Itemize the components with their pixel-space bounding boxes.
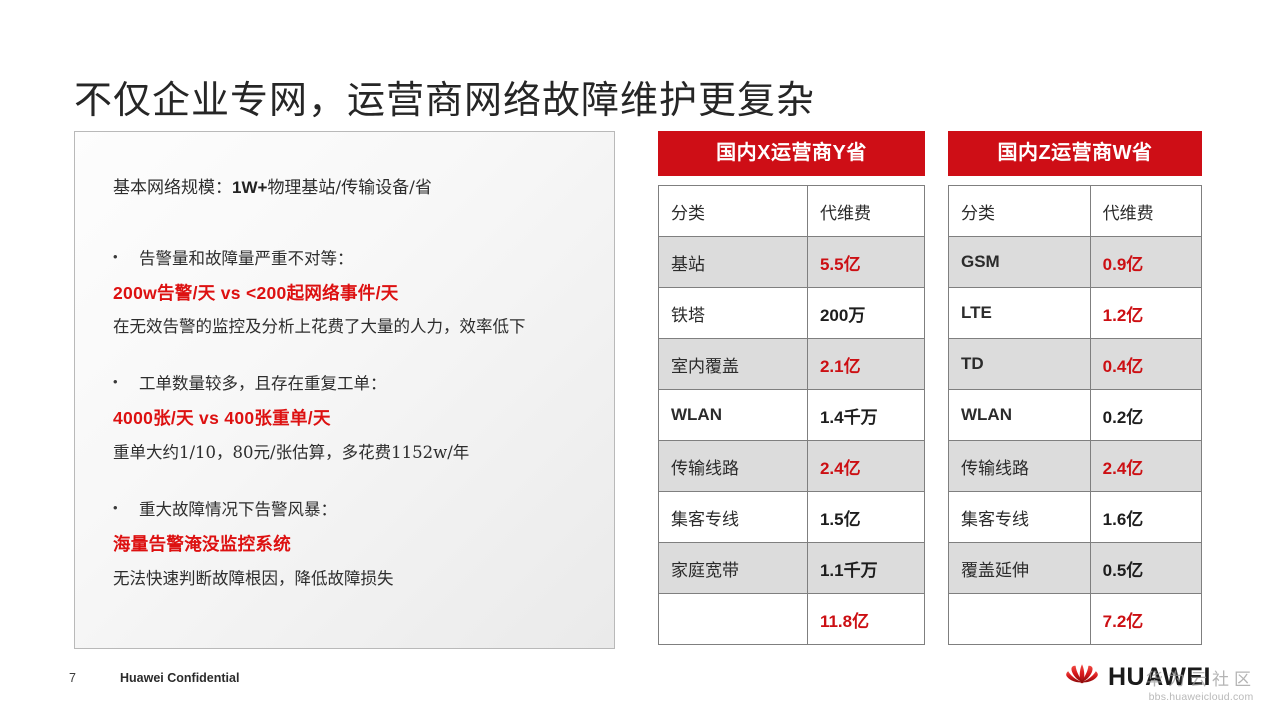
spacer — [658, 176, 925, 185]
table-row: GSM0.9亿 — [949, 237, 1202, 288]
huawei-brand: HUAWEI — [1063, 660, 1211, 695]
cell-fee: 0.2亿 — [1090, 390, 1201, 441]
issue-heading-row: • 重大故障情况下告警风暴： — [113, 498, 590, 522]
issues-panel-body: 基本网络规模：1W+物理基站/传输设备/省 • 告警量和故障量严重不对等： 20… — [75, 132, 614, 590]
cell-category: 覆盖延伸 — [949, 543, 1091, 594]
table-row: WLAN1.4千万 — [659, 390, 925, 441]
issue-highlight: 海量告警淹没监控系统 — [113, 533, 590, 557]
cell-fee: 2.4亿 — [1090, 441, 1201, 492]
cell-category — [949, 594, 1091, 645]
issue-detail: 在无效告警的监控及分析上花费了大量的人力，效率低下 — [113, 315, 590, 338]
cell-category: GSM — [949, 237, 1091, 288]
network-scale-prefix: 基本网络规模： — [113, 178, 232, 198]
cell-fee: 5.5亿 — [807, 237, 924, 288]
table-row: 11.8亿 — [659, 594, 925, 645]
huawei-wordmark: HUAWEI — [1108, 663, 1211, 692]
cell-fee: 0.5亿 — [1090, 543, 1201, 594]
maintenance-fee-table: 分类 代维费 GSM0.9亿LTE1.2亿TD0.4亿WLAN0.2亿传输线路2… — [948, 185, 1202, 645]
network-scale-suffix: 物理基站/传输设备/省 — [267, 178, 431, 198]
cell-fee: 11.8亿 — [807, 594, 924, 645]
cell-fee: 200万 — [807, 288, 924, 339]
issue-block-3: • 重大故障情况下告警风暴： 海量告警淹没监控系统 无法快速判断故障根因，降低故… — [113, 498, 590, 590]
page-title: 不仅企业专网，运营商网络故障维护更复杂 — [74, 69, 815, 124]
table-body: GSM0.9亿LTE1.2亿TD0.4亿WLAN0.2亿传输线路2.4亿集客专线… — [949, 237, 1202, 645]
issue-heading: 重大故障情况下告警风暴： — [139, 498, 590, 522]
issue-detail: 无法快速判断故障根因，降低故障损失 — [113, 567, 590, 590]
table-row: 传输线路2.4亿 — [949, 441, 1202, 492]
cell-category: LTE — [949, 288, 1091, 339]
table-row: 基站5.5亿 — [659, 237, 925, 288]
cell-fee: 2.4亿 — [807, 441, 924, 492]
table-row: WLAN0.2亿 — [949, 390, 1202, 441]
table-row: LTE1.2亿 — [949, 288, 1202, 339]
table-banner: 国内X运营商Y省 — [658, 131, 925, 176]
issue-block-2: • 工单数量较多，且存在重复工单： 4000张/天 vs 400张重单/天 重单… — [113, 372, 590, 464]
cell-category: 传输线路 — [949, 441, 1091, 492]
cell-category: 家庭宽带 — [659, 543, 808, 594]
cell-fee: 1.6亿 — [1090, 492, 1201, 543]
cell-category: 铁塔 — [659, 288, 808, 339]
cell-category: 基站 — [659, 237, 808, 288]
cell-fee: 0.9亿 — [1090, 237, 1201, 288]
table-header-row: 分类 代维费 — [659, 186, 925, 237]
table-row: TD0.4亿 — [949, 339, 1202, 390]
cell-category: 传输线路 — [659, 441, 808, 492]
table-banner: 国内Z运营商W省 — [948, 131, 1202, 176]
table-row: 铁塔200万 — [659, 288, 925, 339]
cell-fee: 7.2亿 — [1090, 594, 1201, 645]
issue-block-1: • 告警量和故障量严重不对等： 200w告警/天 vs <200起网络事件/天 … — [113, 247, 590, 339]
column-header-category: 分类 — [659, 186, 808, 237]
table-row: 家庭宽带1.1千万 — [659, 543, 925, 594]
issue-highlight: 4000张/天 vs 400张重单/天 — [113, 407, 590, 431]
cell-category: 集客专线 — [659, 492, 808, 543]
table-row: 7.2亿 — [949, 594, 1202, 645]
huawei-flower-logo-icon — [1063, 660, 1101, 695]
bullet-icon: • — [113, 372, 139, 393]
cell-category: WLAN — [949, 390, 1091, 441]
column-header-fee: 代维费 — [1090, 186, 1201, 237]
cell-category — [659, 594, 808, 645]
table-row: 覆盖延伸0.5亿 — [949, 543, 1202, 594]
table-row: 集客专线1.6亿 — [949, 492, 1202, 543]
maintenance-fee-table: 分类 代维费 基站5.5亿铁塔200万室内覆盖2.1亿WLAN1.4千万传输线路… — [658, 185, 925, 645]
table-header-row: 分类 代维费 — [949, 186, 1202, 237]
table-row: 传输线路2.4亿 — [659, 441, 925, 492]
table-body: 基站5.5亿铁塔200万室内覆盖2.1亿WLAN1.4千万传输线路2.4亿集客专… — [659, 237, 925, 645]
table-row: 室内覆盖2.1亿 — [659, 339, 925, 390]
network-scale-line: 基本网络规模：1W+物理基站/传输设备/省 — [113, 176, 590, 201]
cell-category: WLAN — [659, 390, 808, 441]
cell-category: 集客专线 — [949, 492, 1091, 543]
bullet-icon: • — [113, 498, 139, 519]
issue-heading-row: • 告警量和故障量严重不对等： — [113, 247, 590, 271]
cell-fee: 1.1千万 — [807, 543, 924, 594]
cell-fee: 1.4千万 — [807, 390, 924, 441]
cell-fee: 1.5亿 — [807, 492, 924, 543]
cell-fee: 0.4亿 — [1090, 339, 1201, 390]
issue-heading: 告警量和故障量严重不对等： — [139, 247, 590, 271]
issues-panel: 基本网络规模：1W+物理基站/传输设备/省 • 告警量和故障量严重不对等： 20… — [74, 131, 615, 649]
cell-fee: 1.2亿 — [1090, 288, 1201, 339]
cell-category: TD — [949, 339, 1091, 390]
column-header-category: 分类 — [949, 186, 1091, 237]
bullet-icon: • — [113, 247, 139, 268]
issue-detail: 重单大约1/10，80元/张估算，多花费1152w/年 — [113, 441, 590, 464]
operator-table-1: 国内X运营商Y省 分类 代维费 基站5.5亿铁塔200万室内覆盖2.1亿WLAN… — [658, 131, 925, 645]
issue-highlight: 200w告警/天 vs <200起网络事件/天 — [113, 282, 590, 306]
spacer — [948, 176, 1202, 185]
issue-heading: 工单数量较多，且存在重复工单： — [139, 372, 590, 396]
page-number: 7 — [69, 671, 76, 685]
confidentiality-label: Huawei Confidential — [120, 671, 239, 685]
issue-heading-row: • 工单数量较多，且存在重复工单： — [113, 372, 590, 396]
network-scale-value: 1W+ — [232, 178, 267, 197]
cell-fee: 2.1亿 — [807, 339, 924, 390]
cell-category: 室内覆盖 — [659, 339, 808, 390]
column-header-fee: 代维费 — [807, 186, 924, 237]
operator-table-2: 国内Z运营商W省 分类 代维费 GSM0.9亿LTE1.2亿TD0.4亿WLAN… — [948, 131, 1202, 645]
table-row: 集客专线1.5亿 — [659, 492, 925, 543]
